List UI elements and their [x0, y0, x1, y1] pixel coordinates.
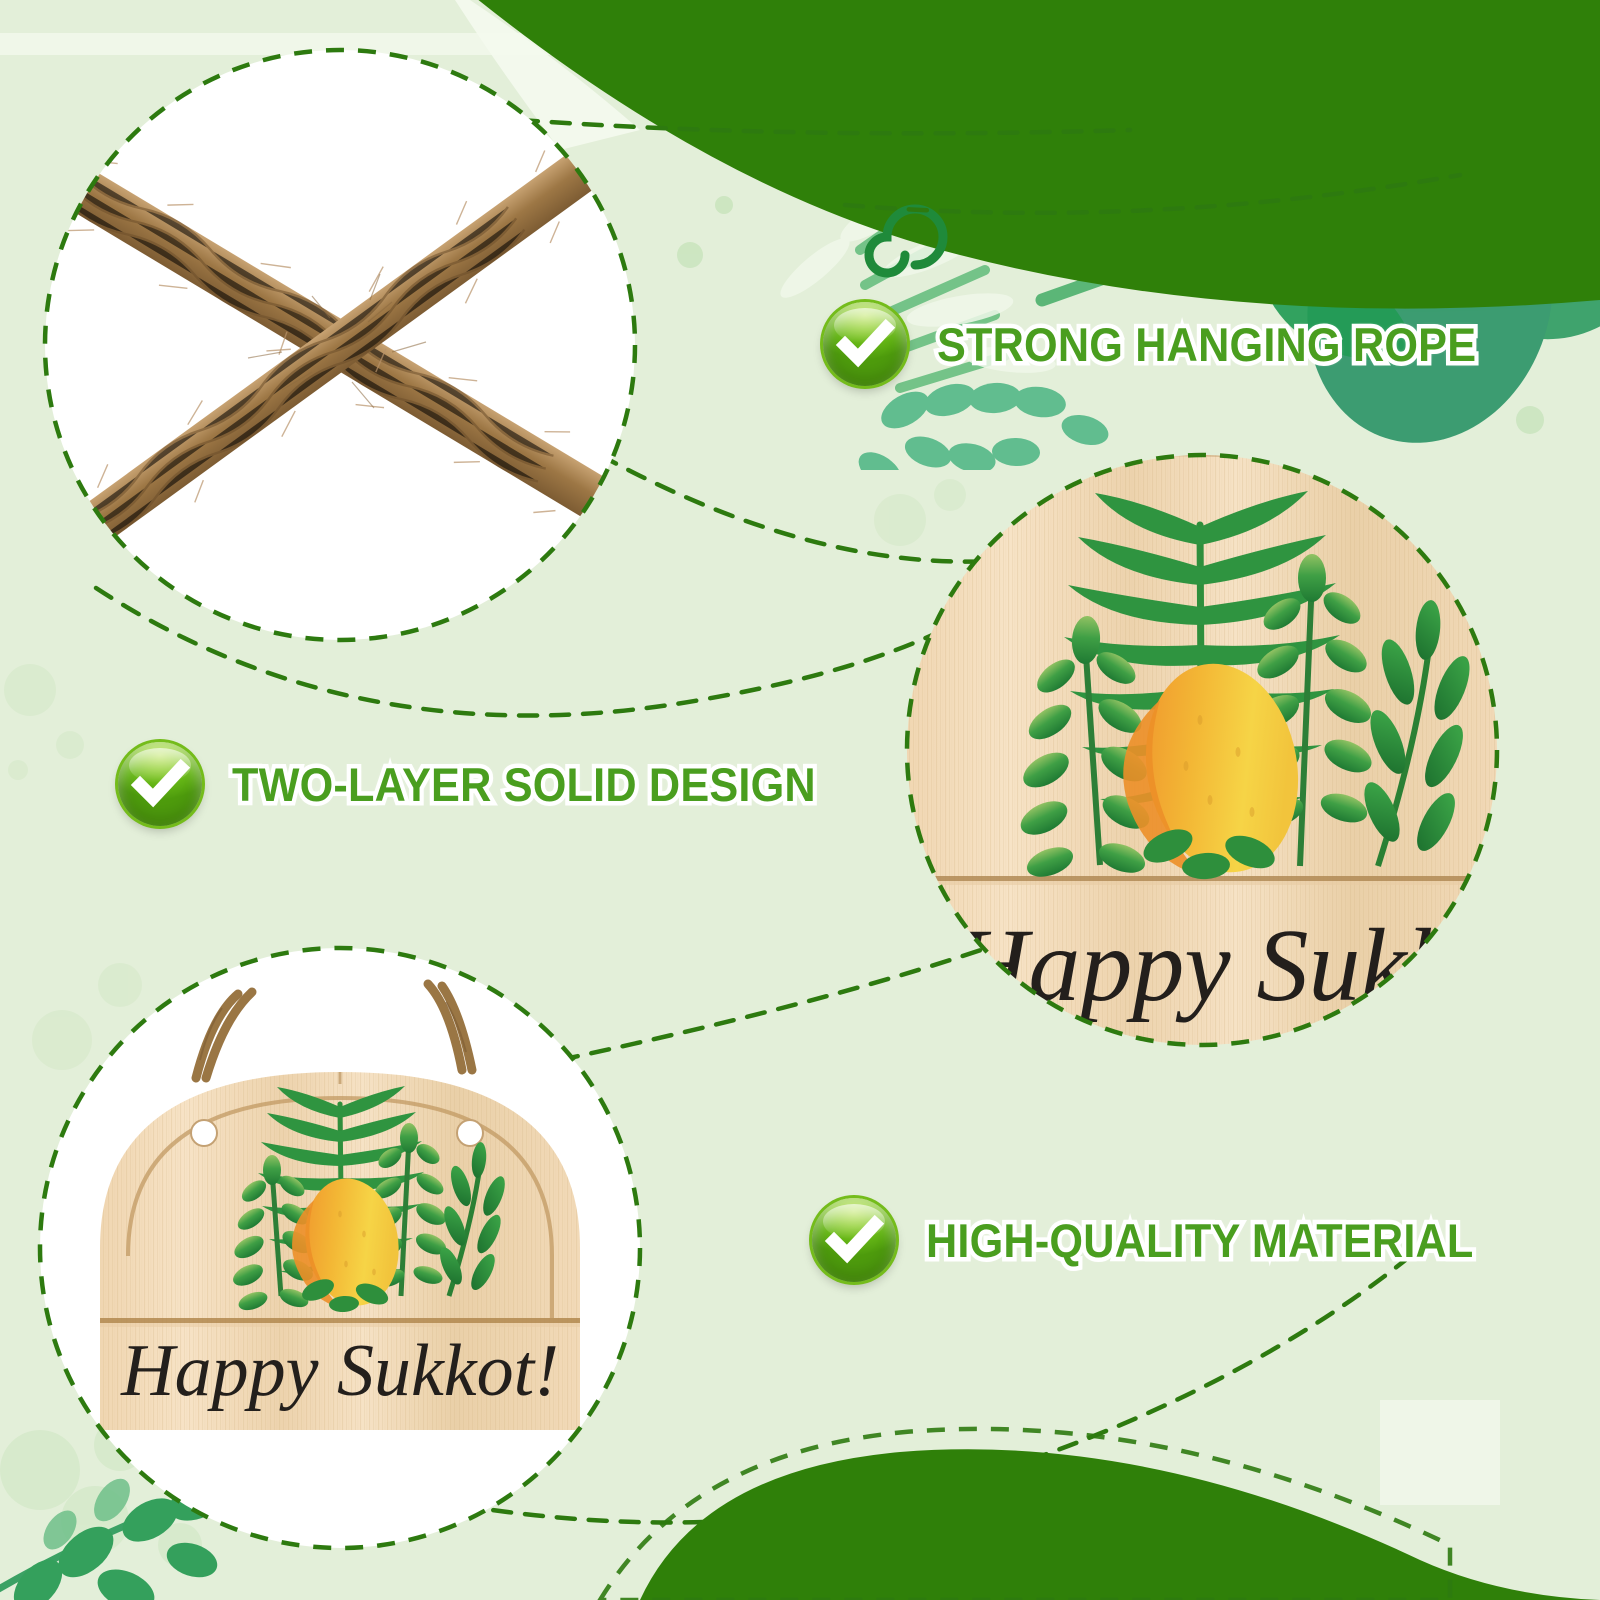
feature-row-high-quality-material: HIGH-QUALITY MATERIAL	[812, 1198, 1521, 1282]
check-badge-icon	[118, 742, 202, 826]
check-badge-icon	[812, 1198, 896, 1282]
infographic-canvas: Happy Sukb	[0, 0, 1600, 1600]
feature-row-strong-hanging-rope: STRONG HANGING ROPE	[823, 302, 1523, 386]
product-engraved-text: Happy Sukkot!	[120, 1330, 559, 1412]
feature-label: TWO-LAYER SOLID DESIGN	[232, 757, 816, 812]
check-badge-icon	[823, 302, 907, 386]
feature-row-two-layer-solid-design: TWO-LAYER SOLID DESIGN	[118, 742, 867, 826]
feature-label: STRONG HANGING ROPE	[937, 317, 1476, 372]
feature-label: HIGH-QUALITY MATERIAL	[926, 1213, 1474, 1268]
